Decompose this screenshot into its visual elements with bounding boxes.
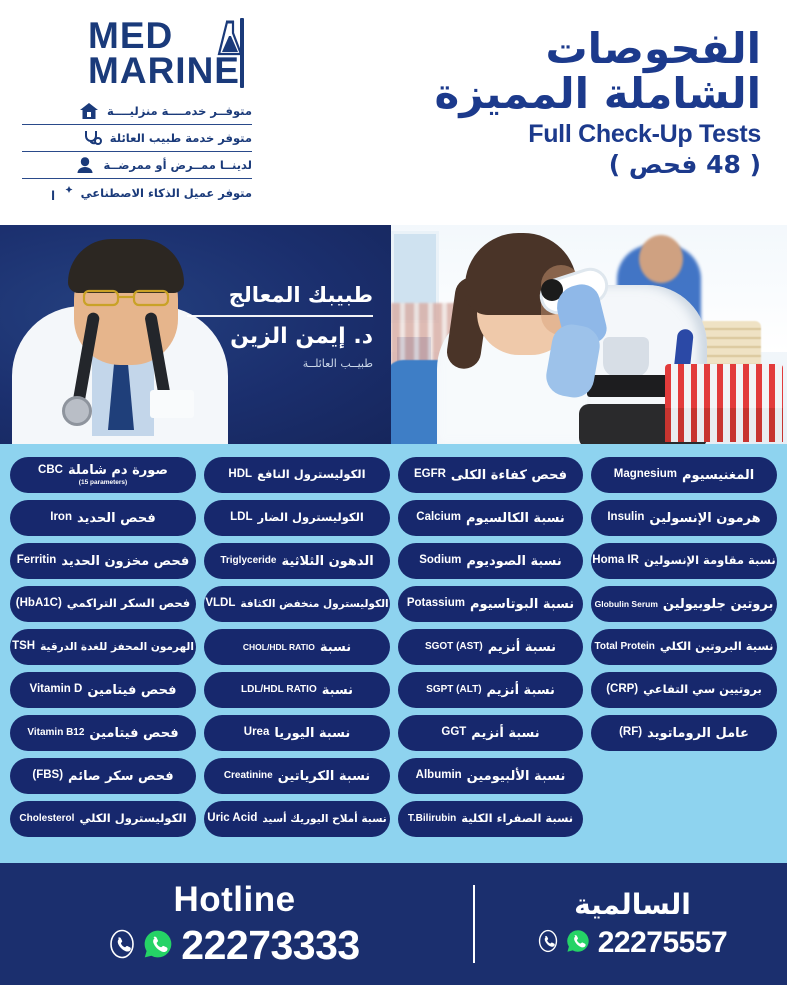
test-name-arabic: الكوليسترول منخفض الكثافة (240, 599, 388, 610)
column-metabolic: المغنيسيومMagnesiumهرمون الإنسولينInsuli… (591, 457, 777, 837)
test-name-english: SGPT (ALT) (426, 685, 481, 695)
brand-logo: MED MARINE متوفــر خدمــــة منزليــــة (22, 18, 252, 206)
test-name-english: Sodium (419, 555, 461, 567)
test-name-english: Ferritin (17, 555, 57, 567)
test-pill[interactable]: نسبة أنزيمGGT (398, 715, 583, 751)
test-pill[interactable]: فحص فيتامينVitamin D (10, 672, 196, 708)
footer: Hotline 22273333 (0, 863, 787, 985)
microscope-objective (603, 337, 649, 377)
page-title-arabic-line2: الشاملة المميزة (321, 71, 761, 116)
branch-block: السالمية 22275557 (493, 890, 773, 958)
glasses-icon (80, 287, 172, 307)
feature-label: متوفــر خدمــــة منزليــــة (107, 104, 252, 118)
test-name-arabic: هرمون الإنسولين (649, 512, 760, 525)
test-name-english: Total Protein (595, 642, 655, 652)
tests-grid: المغنيسيومMagnesiumهرمون الإنسولينInsuli… (10, 457, 777, 837)
test-name-arabic: نسبة (320, 641, 351, 654)
test-name-arabic: نسبة أملاح اليوريك أسيد (262, 814, 386, 825)
feature-label: متوفر عميل الذكاء الاصطناعي (81, 186, 252, 200)
test-name-english: LDL (230, 512, 252, 524)
test-pill[interactable]: فحص السكر التراكمي(HbA1C) (10, 586, 196, 622)
test-parameter-count: (15 parameters) (79, 480, 127, 487)
test-pill[interactable]: فحص كفاءة الكلىEGFR (398, 457, 583, 493)
doctor-stethoscope-bell (62, 396, 92, 426)
test-name-arabic: فحص السكر التراكمي (67, 598, 190, 610)
test-pill[interactable]: فحص سكر صائم(FBS) (10, 758, 196, 794)
test-name-english: Cholesterol (19, 814, 74, 824)
test-name-arabic: فحص فيتامين (87, 684, 176, 697)
test-pill[interactable]: هرمون الإنسولينInsulin (591, 500, 777, 536)
test-name-english: GGT (441, 727, 466, 739)
test-name-english: Magnesium (614, 469, 677, 481)
test-name-english: (RF) (619, 727, 642, 739)
test-name-arabic: عامل الروماتويد (647, 727, 749, 740)
logo-words: MED MARINE (88, 18, 240, 88)
test-pill[interactable]: الكوليسترول الكليCholesterol (10, 801, 196, 837)
test-pill[interactable]: نسبة الكالسيومCalcium (398, 500, 583, 536)
test-pill[interactable]: نسبة اليورياUrea (204, 715, 390, 751)
test-name-english: EGFR (414, 469, 446, 481)
test-name-arabic: الدهون الثلاثية (281, 555, 373, 568)
test-pill[interactable]: فحص الحديدIron (10, 500, 196, 536)
branch-phone-row[interactable]: 22275557 (493, 928, 773, 958)
test-name-english: Triglyceride (220, 556, 276, 566)
test-name-english: Potassium (407, 598, 465, 610)
test-name-arabic: فحص كفاءة الكلى (451, 469, 567, 482)
footer-divider (473, 885, 475, 963)
doctor-specialty: طبيــب العائلــة (163, 357, 373, 370)
branch-label: السالمية (493, 890, 773, 921)
hotline-row[interactable]: 22273333 (15, 925, 455, 966)
test-name-english: Homa IR (592, 555, 639, 567)
test-name-arabic: نسبة البوتاسيوم (470, 598, 574, 611)
hotline-label: Hotline (15, 882, 455, 919)
test-name-english: SGOT (AST) (425, 642, 483, 652)
test-name-arabic: المغنيسيوم (682, 469, 754, 482)
test-name-english: Insulin (607, 512, 644, 524)
doctor-photo: طبيبك المعالج د. إيمن الزين طبيــب العائ… (0, 225, 391, 444)
test-pill[interactable]: فحص مخزون الحديدFerritin (10, 543, 196, 579)
test-name-arabic: الكوليسترول الكلي (79, 813, 186, 825)
test-name-english: Uric Acid (207, 813, 257, 825)
hotline-number[interactable]: 22273333 (181, 925, 359, 966)
test-pill[interactable]: الدهون الثلاثيةTriglyceride (204, 543, 390, 579)
test-pill[interactable]: فحص فيتامينVitamin B12 (10, 715, 196, 751)
test-name-arabic: نسبة مقاومة الإنسولين (644, 555, 776, 567)
logo-wordmark: MED MARINE (22, 18, 252, 88)
test-pill[interactable]: نسبة أنزيمSGOT (AST) (398, 629, 583, 665)
lab-photo (391, 225, 787, 444)
feature-item-nurse: لدينــا ممــرض أو ممرضــة (22, 152, 252, 179)
test-pill[interactable]: نسبة البروتين الكليTotal Protein (591, 629, 777, 665)
doctor-caption-divider (187, 315, 373, 317)
test-name-english: HDL (228, 469, 252, 481)
test-name-english: Vitamin B12 (27, 728, 84, 738)
doctor-badge (150, 390, 194, 418)
test-name-english: Albumin (416, 770, 462, 782)
column-blood-hormones: صورة دم شاملةCBC(15 parameters)فحص الحدي… (10, 457, 196, 837)
test-name-arabic: الكوليسترول النافع (257, 469, 366, 481)
test-name-english: TSH (12, 641, 35, 653)
test-name-arabic: نسبة الألبيومين (467, 770, 566, 783)
doctor-caption-label: طبيبك المعالج (163, 283, 373, 308)
test-name-arabic: صورة دم شاملة (68, 464, 168, 477)
test-name-arabic: نسبة أنزيم (471, 727, 539, 740)
branch-number[interactable]: 22275557 (598, 928, 727, 958)
test-name-arabic: نسبة أنزيم (487, 684, 555, 697)
test-name-arabic: الهرمون المحفز للغدة الدرقية (40, 642, 194, 653)
test-name-arabic: نسبة (322, 684, 353, 697)
hotline-block: Hotline 22273333 (15, 882, 455, 967)
column-kidney-liver: فحص كفاءة الكلىEGFRنسبة الكالسيومCalcium… (398, 457, 583, 837)
test-name-arabic: بروتين جلوبيولين (663, 598, 774, 611)
home-icon (78, 101, 100, 121)
test-name-arabic: نسبة أنزيم (488, 641, 556, 654)
test-count-badge: ( 48 فحص ) (321, 150, 761, 179)
test-pill[interactable]: نسبة مقاومة الإنسولينHoma IR (591, 543, 777, 579)
test-pill[interactable]: المغنيسيومMagnesium (591, 457, 777, 493)
test-name-arabic: نسبة البروتين الكلي (660, 641, 774, 653)
svg-text:AI: AI (52, 187, 55, 202)
test-pill[interactable]: نسبة أنزيمSGPT (ALT) (398, 672, 583, 708)
test-name-english: CHOL/HDL RATIO (243, 643, 315, 652)
test-pill[interactable]: الكوليسترول منخفض الكثافةVLDL (204, 586, 390, 622)
logo-text-marine: MARINE (88, 53, 240, 88)
feature-list: متوفــر خدمــــة منزليــــة متوفر خدمة ط… (22, 98, 252, 206)
whatsapp-icon[interactable] (566, 929, 590, 957)
test-pill[interactable]: نسبة الصفراء الكليةT.Bilirubin (398, 801, 583, 837)
test-name-english: VLDL (205, 598, 235, 610)
doctor-caption: طبيبك المعالج د. إيمن الزين طبيــب العائ… (163, 283, 373, 370)
page-title-arabic-line1: الفحوصات (321, 26, 761, 71)
photo-strip: طبيبك المعالج د. إيمن الزين طبيــب العائ… (0, 225, 787, 444)
test-name-arabic: بروتيين سي التفاعي (643, 684, 762, 696)
test-name-english: Creatinine (224, 771, 273, 781)
feature-label: متوفر خدمة طبيب العائلة (110, 131, 252, 145)
test-name-english: Vitamin D (29, 684, 82, 696)
test-name-english: LDL/HDL RATIO (241, 685, 317, 695)
test-name-arabic: فحص سكر صائم (68, 770, 174, 783)
header-title-block: الفحوصات الشاملة المميزة Full Check-Up T… (321, 26, 761, 179)
lab-test-tube-caps (665, 408, 783, 442)
test-name-arabic: فحص الحديد (77, 512, 156, 525)
test-pill[interactable]: نسبةLDL/HDL RATIO (204, 672, 390, 708)
test-pill[interactable]: نسبة البوتاسيومPotassium (398, 586, 583, 622)
stethoscope-icon (81, 128, 103, 148)
test-name-arabic: نسبة الكرياتين (278, 770, 370, 783)
column-lipids: الكوليسترول النافعHDLالكوليسترول الضارLD… (204, 457, 390, 837)
test-name-arabic: الكوليسترول الضار (257, 512, 363, 524)
poster-root: MED MARINE متوفــر خدمــــة منزليــــة (0, 0, 787, 985)
test-pill[interactable]: صورة دم شاملةCBC(15 parameters) (10, 457, 196, 493)
test-pill[interactable]: نسبة أملاح اليوريك أسيدUric Acid (204, 801, 390, 837)
test-pill[interactable]: نسبةCHOL/HDL RATIO (204, 629, 390, 665)
test-name-english: (CRP) (606, 684, 638, 696)
doctor-name: د. إيمن الزين (163, 324, 373, 350)
test-name-english: T.Bilirubin (408, 814, 456, 824)
test-name-english: CBC (38, 465, 63, 477)
test-pill[interactable]: نسبة الصوديومSodium (398, 543, 583, 579)
test-name-english: (FBS) (32, 770, 63, 782)
feature-item-ai-agent: متوفر عميل الذكاء الاصطناعي AI (22, 179, 252, 206)
page-title-english: Full Check-Up Tests (321, 120, 761, 149)
phone-icon[interactable] (109, 929, 135, 963)
test-pill[interactable]: الكوليسترول الضارLDL (204, 500, 390, 536)
logo-text-med: MED (88, 18, 240, 53)
test-pill[interactable]: الكوليسترول النافعHDL (204, 457, 390, 493)
feature-item-family-doctor: متوفر خدمة طبيب العائلة (22, 125, 252, 152)
test-name-english: Urea (244, 727, 270, 739)
test-name-english: Iron (50, 512, 72, 524)
test-pill[interactable]: بروتيين سي التفاعي(CRP) (591, 672, 777, 708)
test-name-arabic: نسبة اليوريا (274, 727, 350, 740)
test-name-english: (HbA1C) (16, 598, 62, 610)
ai-icon: AI (52, 183, 74, 203)
feature-item-home-service: متوفــر خدمــــة منزليــــة (22, 98, 252, 125)
test-name-english: Globulin Serum (595, 600, 658, 609)
header: MED MARINE متوفــر خدمــــة منزليــــة (0, 0, 787, 225)
nurse-icon (74, 155, 96, 175)
test-name-arabic: فحص مخزون الحديد (61, 555, 189, 568)
lab-background-person-head (639, 235, 683, 283)
test-name-arabic: نسبة الكالسيوم (466, 512, 565, 525)
test-name-english: Calcium (416, 512, 461, 524)
test-name-arabic: نسبة الصوديوم (466, 555, 561, 568)
test-name-arabic: نسبة الصفراء الكلية (461, 813, 573, 825)
phone-icon[interactable] (538, 929, 558, 957)
test-pill[interactable]: بروتين جلوبيولينGlobulin Serum (591, 586, 777, 622)
test-pill[interactable]: نسبة الألبيومينAlbumin (398, 758, 583, 794)
test-pill[interactable]: نسبة الكرياتينCreatinine (204, 758, 390, 794)
test-pill[interactable]: الهرمون المحفز للغدة الدرقيةTSH (10, 629, 196, 665)
feature-label: لدينــا ممــرض أو ممرضــة (103, 158, 252, 172)
tests-grid-section: المغنيسيومMagnesiumهرمون الإنسولينInsuli… (0, 444, 787, 863)
whatsapp-icon[interactable] (143, 929, 173, 963)
test-name-arabic: فحص فيتامين (89, 727, 178, 740)
test-pill[interactable]: عامل الروماتويد(RF) (591, 715, 777, 751)
